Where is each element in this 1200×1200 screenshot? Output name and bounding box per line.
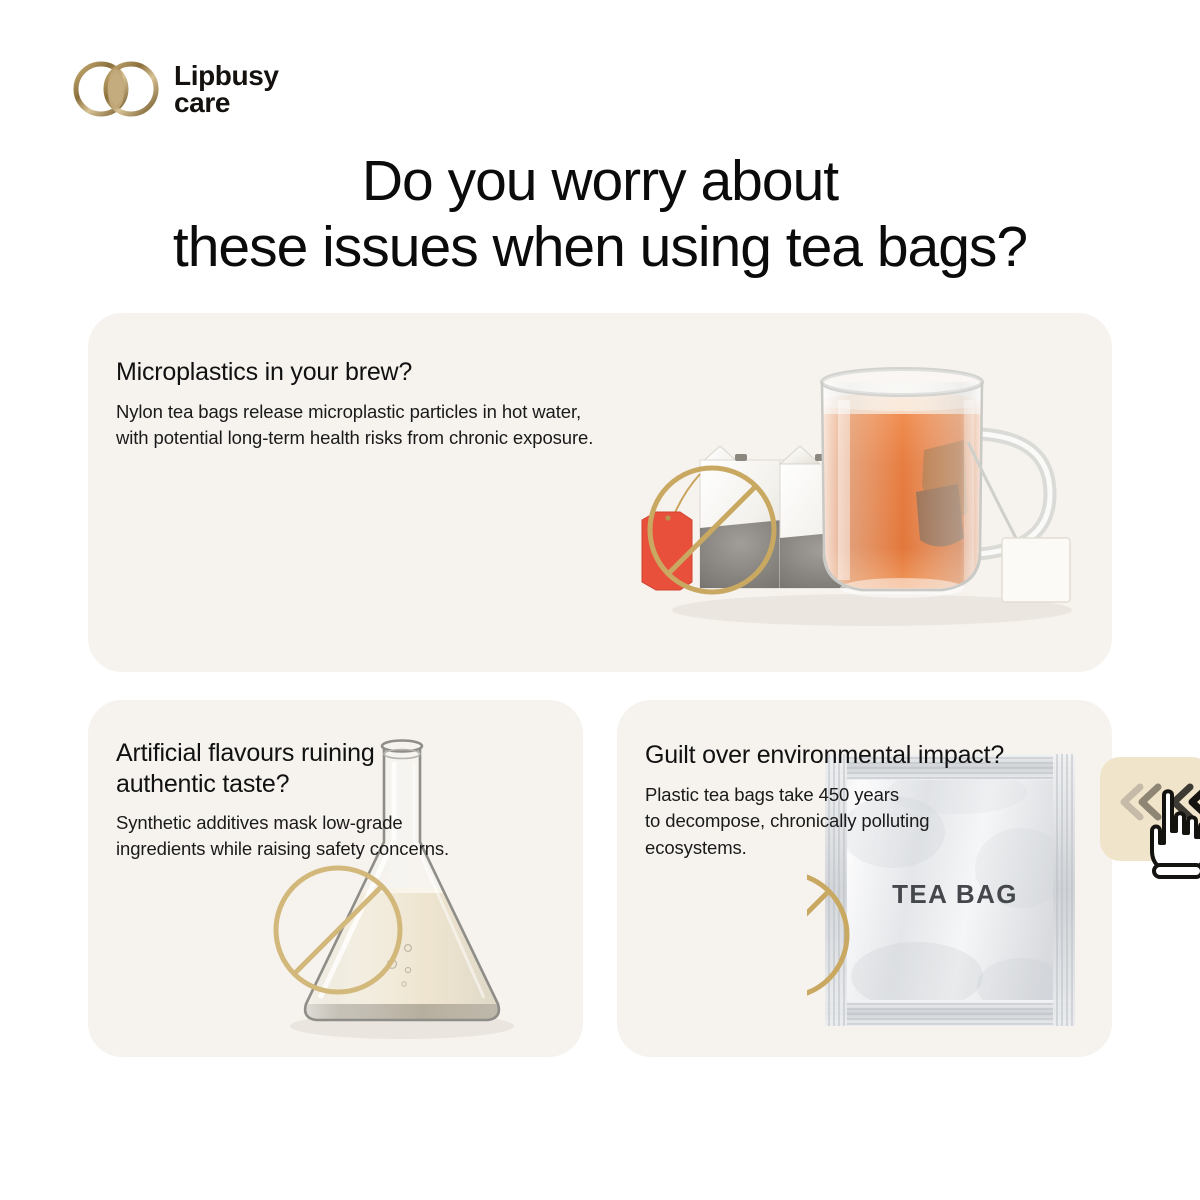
- tea-cup-with-tea-bags-art: [572, 342, 1112, 672]
- issue-card-artificial-flavours[interactable]: Artificial flavours ruining authentic ta…: [88, 700, 583, 1057]
- swipe-left-hint[interactable]: [1100, 757, 1200, 861]
- card-title: Artificial flavours ruining authentic ta…: [116, 738, 446, 800]
- tea-bag-rear: [700, 446, 782, 588]
- card-body: Synthetic additives mask low-grade ingre…: [116, 810, 461, 863]
- card-body: Nylon tea bags release microplastic part…: [116, 399, 593, 452]
- glass-tea-mug: [820, 369, 1050, 598]
- brand-name: Lipbusy care: [174, 62, 279, 117]
- no-symbol-icon: [650, 468, 774, 592]
- packet-label: TEA BAG: [892, 879, 1018, 909]
- card-title: Guilt over environmental impact?: [645, 740, 1004, 771]
- headline-line-1: Do you worry about: [0, 148, 1200, 214]
- page-headline: Do you worry about these issues when usi…: [0, 148, 1200, 280]
- overlapping-rings-logo-icon: [72, 58, 160, 120]
- card-title: Microplastics in your brew?: [116, 357, 412, 388]
- steeping-bag-string-tag: [968, 442, 1070, 602]
- brand-name-line2: care: [174, 89, 279, 116]
- no-symbol-icon: [807, 873, 847, 997]
- brand-name-line1: Lipbusy: [174, 62, 279, 89]
- issue-card-microplastics[interactable]: Microplastics in your brew? Nylon tea ba…: [88, 313, 1112, 672]
- tea-bag-red-tag: [642, 474, 700, 590]
- infographic-page: Lipbusy care Do you worry about these is…: [0, 0, 1200, 1200]
- no-symbol-icon: [276, 868, 400, 992]
- tea-bag-front: [780, 446, 864, 588]
- card-body: Plastic tea bags take 450 years to decom…: [645, 782, 929, 861]
- brand-logo[interactable]: Lipbusy care: [72, 58, 279, 120]
- hand-pointer-cursor-icon: [1138, 787, 1200, 879]
- issue-card-environmental-impact[interactable]: Guilt over environmental impact? Plastic…: [617, 700, 1112, 1057]
- headline-line-2: these issues when using tea bags?: [0, 214, 1200, 280]
